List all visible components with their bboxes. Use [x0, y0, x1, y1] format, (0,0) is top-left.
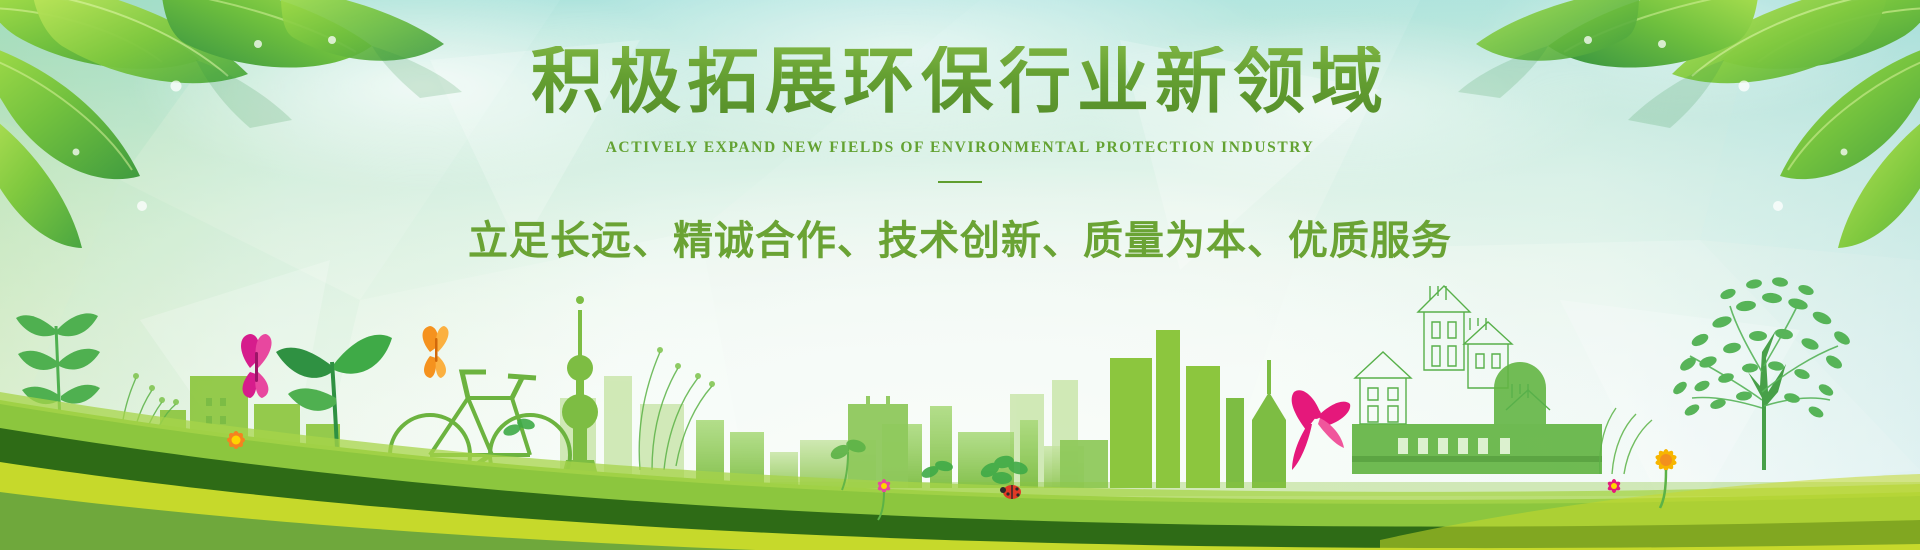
page-subtitle-english: ACTIVELY EXPAND NEW FIELDS OF ENVIRONMEN… — [0, 139, 1920, 157]
title-divider — [938, 181, 982, 183]
page-tagline: 立足长远、精诚合作、技术创新、质量为本、优质服务 — [0, 221, 1920, 261]
headline-block: 积极拓展环保行业新领域 ACTIVELY EXPAND NEW FIELDS O… — [0, 46, 1920, 261]
page-title: 积极拓展环保行业新领域 — [0, 46, 1920, 118]
eco-banner: 积极拓展环保行业新领域 ACTIVELY EXPAND NEW FIELDS O… — [0, 0, 1920, 550]
